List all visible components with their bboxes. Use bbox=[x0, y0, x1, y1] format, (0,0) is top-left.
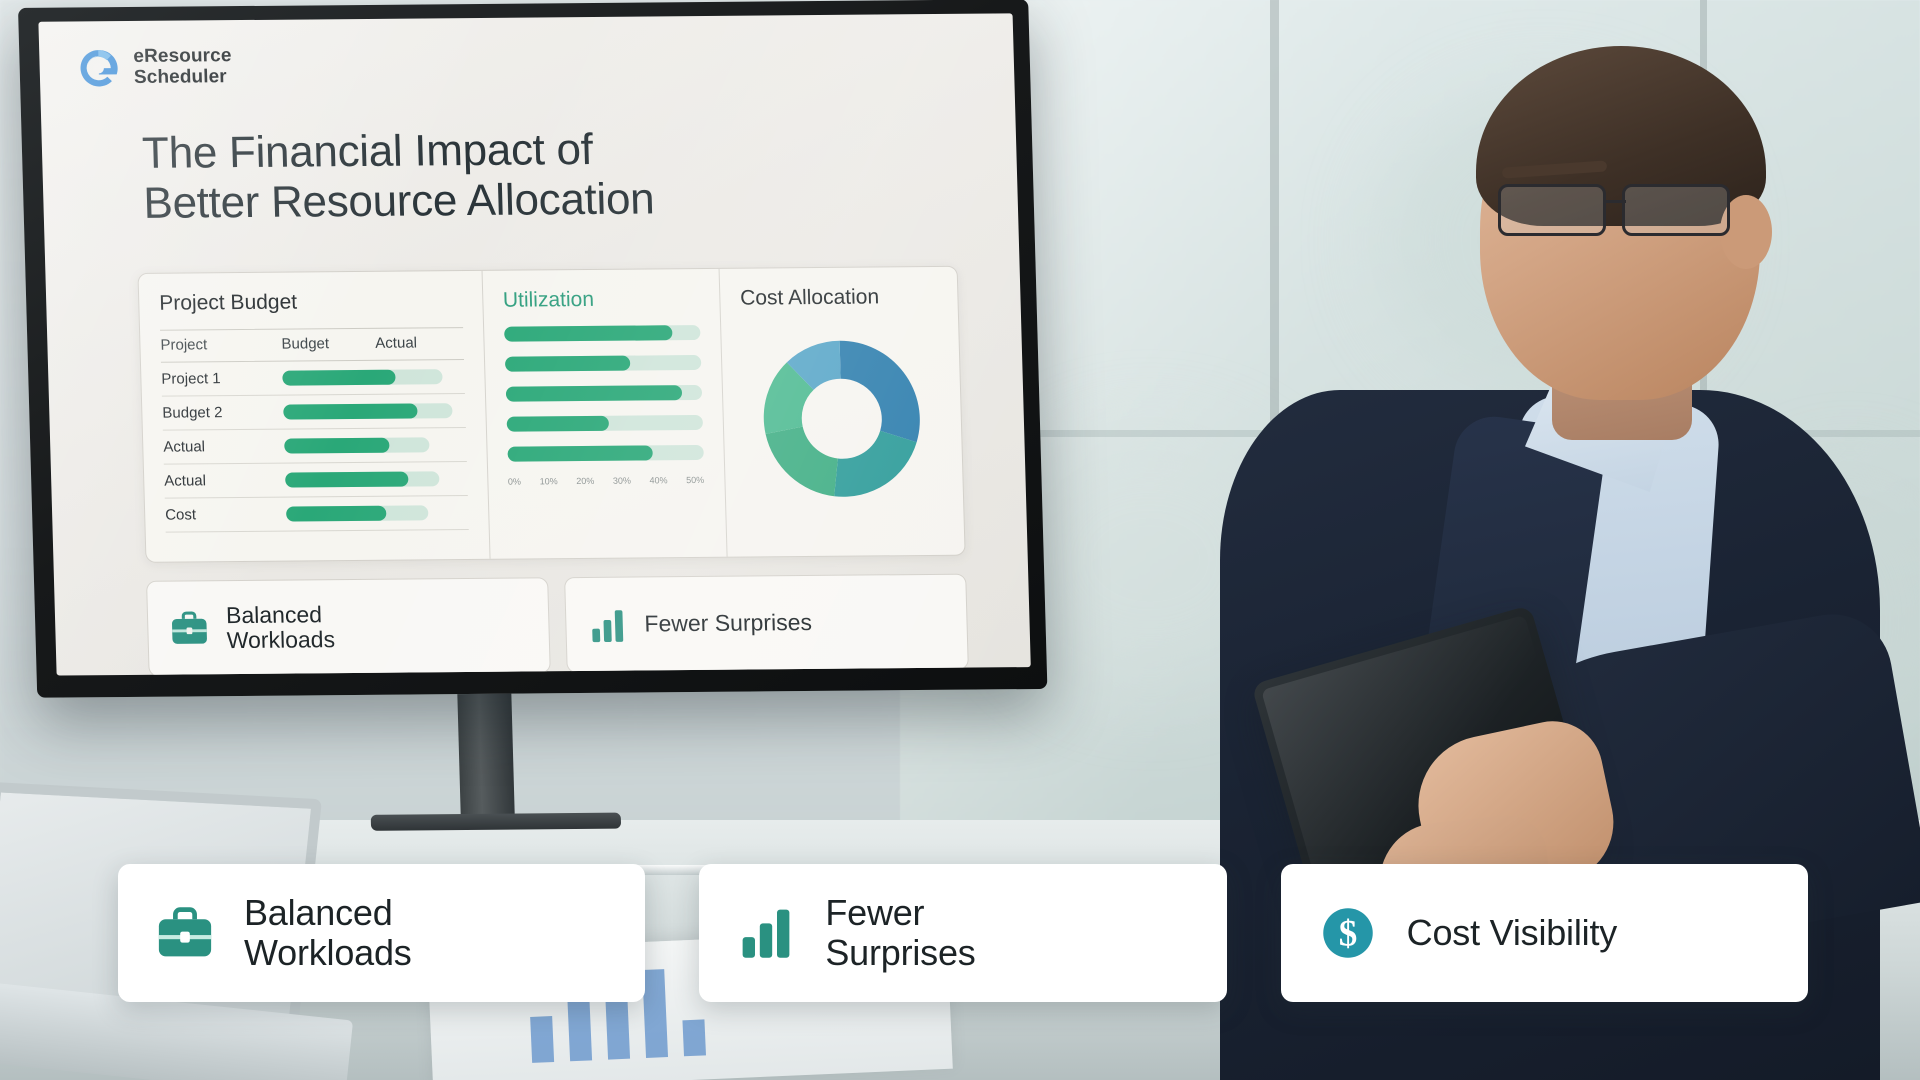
panel-cost-allocation: Cost Allocation bbox=[719, 267, 964, 557]
screen-feature-strip: Balanced Workloads Fewer Surpris bbox=[146, 574, 969, 676]
monitor-screen: eResource Scheduler The Financial Impact… bbox=[38, 13, 1030, 675]
dollar-icon: $ bbox=[1315, 900, 1381, 966]
dashboard-card: Project Budget Project Budget Actual Pro… bbox=[137, 266, 965, 563]
feature-card-label-line2: Surprises bbox=[825, 932, 975, 973]
briefcase-icon bbox=[152, 900, 218, 966]
table-cell-project-name: Cost bbox=[165, 506, 287, 524]
screen-feature-balanced-workloads: Balanced Workloads bbox=[146, 577, 551, 675]
screen-feature-label-line2: Workloads bbox=[226, 626, 335, 653]
axis-tick-label: 20% bbox=[576, 476, 594, 486]
panel-title-cost-allocation: Cost Allocation bbox=[740, 285, 938, 311]
bar-budget bbox=[285, 472, 409, 488]
utilization-bar-row bbox=[505, 385, 702, 402]
headline-line-2: Better Resource Allocation bbox=[143, 173, 845, 229]
utilization-bar-row bbox=[504, 325, 701, 342]
axis-tick-label: 50% bbox=[686, 475, 704, 485]
promo-image: eResource Scheduler The Financial Impact… bbox=[0, 0, 1920, 1080]
column-header-actual: Actual bbox=[375, 334, 463, 352]
utilization-axis-ticks: 0%10%20%30%40%50% bbox=[508, 475, 705, 487]
donut-chart-svg bbox=[750, 328, 935, 510]
column-header-budget: Budget bbox=[281, 335, 375, 353]
e-swoosh-icon bbox=[75, 45, 122, 91]
panel-project-budget: Project Budget Project Budget Actual Pro… bbox=[138, 271, 490, 562]
donut-slice bbox=[766, 426, 840, 496]
lens-right bbox=[1622, 184, 1730, 236]
feature-card-row: Balanced Workloads Fewer Surprises bbox=[118, 864, 1808, 1002]
monitor-base bbox=[371, 813, 621, 831]
table-cell-project-name: Actual bbox=[164, 472, 286, 490]
feature-card-label: Balanced Workloads bbox=[244, 893, 412, 972]
brand-name-line1: eResource bbox=[133, 46, 232, 68]
utilization-bar-row bbox=[506, 415, 703, 432]
lens-left bbox=[1498, 184, 1606, 236]
table-cell-bars bbox=[284, 437, 466, 454]
axis-tick-label: 30% bbox=[613, 476, 631, 486]
utilization-bars bbox=[504, 325, 704, 462]
bar-budget bbox=[284, 438, 390, 454]
utilization-bar-fill bbox=[504, 325, 673, 341]
page-title: The Financial Impact of Better Resource … bbox=[141, 123, 844, 229]
glasses-bridge bbox=[1604, 200, 1626, 203]
briefcase-icon bbox=[166, 605, 213, 651]
feature-card-label: Cost Visibility bbox=[1407, 913, 1617, 953]
project-budget-rows: Project 1Budget 2ActualActualCost bbox=[161, 360, 468, 533]
brand-name-line2: Scheduler bbox=[134, 66, 227, 88]
table-row: Cost bbox=[165, 496, 469, 533]
feature-card-label-line1: Fewer bbox=[825, 892, 924, 933]
feature-card-fewer-surprises[interactable]: Fewer Surprises bbox=[699, 864, 1226, 1002]
table-cell-project-name: Actual bbox=[163, 438, 285, 456]
utilization-bar-fill bbox=[506, 416, 608, 432]
table-header-row: Project Budget Actual bbox=[160, 327, 464, 363]
table-row: Actual bbox=[164, 462, 468, 499]
panel-utilization: Utilization 0%10%20%30%40%50% bbox=[482, 269, 727, 559]
screen-feature-fewer-surprises: Fewer Surprises bbox=[564, 574, 969, 673]
eyeglasses bbox=[1498, 178, 1748, 240]
table-cell-project-name: Project 1 bbox=[161, 370, 283, 388]
bar-chart-icon bbox=[733, 900, 799, 966]
headline-line-1: The Financial Impact of bbox=[141, 123, 843, 179]
feature-card-label-line2: Workloads bbox=[244, 932, 412, 973]
feature-card-label: Fewer Surprises bbox=[825, 893, 975, 972]
screen-feature-label-line1: Balanced bbox=[226, 601, 323, 628]
bar-budget bbox=[283, 403, 418, 419]
monitor-stand bbox=[457, 694, 515, 824]
utilization-bar-fill bbox=[507, 445, 653, 461]
bar-budget bbox=[282, 370, 395, 386]
table-cell-project-name: Budget 2 bbox=[162, 404, 284, 422]
utilization-bar-row bbox=[507, 445, 704, 462]
feature-card-label-line1: Balanced bbox=[244, 892, 393, 933]
panel-title-utilization: Utilization bbox=[503, 287, 700, 313]
utilization-bar-row bbox=[504, 355, 701, 372]
project-budget-table: Project Budget Actual Project 1Budget 2A… bbox=[160, 327, 468, 533]
monitor: eResource Scheduler The Financial Impact… bbox=[18, 0, 1061, 828]
cost-allocation-donut bbox=[741, 323, 944, 515]
monitor-bezel: eResource Scheduler The Financial Impact… bbox=[18, 0, 1047, 698]
svg-text:$: $ bbox=[1338, 913, 1357, 954]
column-header-project: Project bbox=[160, 336, 282, 354]
table-row: Actual bbox=[163, 428, 467, 465]
utilization-bar-fill bbox=[504, 356, 630, 372]
screen-feature-label: Balanced Workloads bbox=[226, 602, 336, 654]
screen-feature-label: Fewer Surprises bbox=[644, 610, 812, 637]
panel-title-project-budget: Project Budget bbox=[159, 289, 462, 316]
axis-tick-label: 10% bbox=[539, 476, 557, 486]
table-cell-bars bbox=[286, 505, 468, 522]
donut-slice bbox=[833, 430, 919, 496]
table-row: Project 1 bbox=[161, 360, 465, 397]
utilization-bar-fill bbox=[505, 385, 682, 402]
axis-tick-label: 40% bbox=[649, 475, 667, 485]
table-row: Budget 2 bbox=[162, 394, 466, 431]
bar-chart-icon bbox=[584, 602, 631, 648]
brand-name: eResource Scheduler bbox=[133, 47, 232, 89]
feature-card-cost-visibility[interactable]: $ Cost Visibility bbox=[1281, 864, 1808, 1002]
bar-budget bbox=[286, 506, 386, 522]
feature-card-balanced-workloads[interactable]: Balanced Workloads bbox=[118, 864, 645, 1002]
table-cell-bars bbox=[283, 403, 465, 420]
brand-logo: eResource Scheduler bbox=[75, 44, 232, 91]
table-cell-bars bbox=[282, 369, 464, 386]
axis-tick-label: 0% bbox=[508, 477, 521, 487]
donut-slice bbox=[840, 340, 921, 443]
table-cell-bars bbox=[285, 471, 467, 488]
